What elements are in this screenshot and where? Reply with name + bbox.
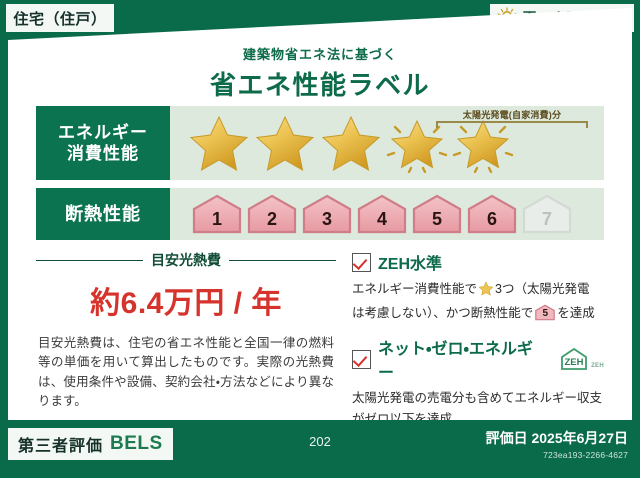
insulation-performance-row: 断熱性能 1	[36, 188, 604, 240]
energy-performance-body: 太陽光発電(自家消費)分	[170, 106, 604, 180]
insulation-scale: 1 2 3	[170, 194, 572, 234]
zeh-desc-house-level: 5	[535, 304, 555, 321]
zeh-logo-sub: ZEH	[591, 363, 604, 371]
star-icon	[188, 113, 250, 173]
footer: 第三者評価 BELS 202 評価日 2025年6月27日 723ea193-2…	[0, 420, 640, 478]
zeh-standard-block: ZEH水準 エネルギー消費性能で3つ（太陽光発電は考慮しない）、かつ断熱性能で5…	[352, 250, 604, 323]
insulation-level-value: 2	[267, 209, 277, 234]
dwelling-type-tag: 住宅（住戸）	[6, 4, 114, 32]
zeh-desc-part3: を達成	[557, 306, 595, 320]
zeh-desc-part2: は考慮しない）、かつ断熱性能で	[352, 306, 533, 320]
energy-performance-row: エネルギー 消費性能	[36, 106, 604, 180]
insulation-level-value: 6	[487, 209, 497, 234]
zeh-section: ZEH水準 エネルギー消費性能で3つ（太陽光発電は考慮しない）、かつ断熱性能で5…	[336, 250, 604, 400]
header: 建築物省エネ法に基づく 省エネ性能ラベル	[22, 44, 618, 102]
insulation-level-badge: 4	[357, 194, 407, 234]
insulation-level-value: 7	[542, 209, 552, 234]
label-sheet-inner: 建築物省エネ法に基づく 省エネ性能ラベル エネルギー 消費性能	[22, 22, 618, 406]
insulation-level-value: 5	[432, 209, 442, 234]
check-icon	[352, 350, 371, 369]
insulation-level-badge-inactive: 7	[522, 194, 572, 234]
zeh-standard-title: ZEH水準	[378, 250, 442, 274]
zeh-desc-part1: エネルギー消費性能で	[352, 282, 477, 296]
energy-cost-section: 目安光熱費 約6.4万円 / 年 目安光熱費は、住宅の省エネ性能と全国一律の燃料…	[36, 250, 336, 400]
check-icon	[352, 253, 371, 272]
label-sheet: 建築物省エネ法に基づく 省エネ性能ラベル エネルギー 消費性能	[8, 8, 632, 420]
page-title: 省エネ性能ラベル	[22, 65, 618, 102]
insulation-level-value: 4	[377, 209, 387, 234]
lower-section: 目安光熱費 約6.4万円 / 年 目安光熱費は、住宅の省エネ性能と全国一律の燃料…	[36, 250, 604, 400]
insulation-performance-body: 1 2 3	[170, 188, 604, 240]
insulation-level-badge: 1	[192, 194, 242, 234]
zeh-desc-star-count: 3つ（太陽光発電	[495, 282, 589, 296]
heading-rule-left	[36, 260, 143, 261]
energy-performance-label: エネルギー 消費性能	[36, 106, 170, 180]
svg-text:ZEH: ZEH	[565, 357, 584, 368]
header-subtitle: 建築物省エネ法に基づく	[22, 44, 618, 63]
energy-cost-value: 約6.4万円 / 年	[36, 278, 336, 322]
insulation-performance-label: 断熱性能	[36, 188, 170, 240]
insulation-level-badge-inline: 5	[535, 304, 555, 321]
energy-cost-note: 目安光熱費は、住宅の省エネ性能と全国一律の燃料等の単価を用いて算出したものです。…	[36, 334, 336, 412]
insulation-level-value: 1	[212, 209, 222, 234]
insulation-level-value: 3	[322, 209, 332, 234]
energy-label-line1: エネルギー	[58, 122, 148, 143]
dwelling-type-label: 住宅（住戸）	[13, 8, 106, 29]
insulation-level-badge: 3	[302, 194, 352, 234]
energy-performance-label: 住宅（住戸） 再エネ設備あり 建築物省エネ法に基づく	[0, 0, 640, 478]
energy-cost-heading: 目安光熱費	[36, 250, 336, 270]
heading-rule-right	[229, 260, 336, 261]
zeh-logo-icon: ZEH ZEH	[559, 347, 604, 371]
star-icon-inline	[478, 285, 494, 299]
insulation-level-badge: 5	[412, 194, 462, 234]
star-icon	[254, 113, 316, 173]
evaluation-info: 評価日 2025年6月27日 723ea193-2266-4627	[486, 428, 628, 460]
star-icon	[320, 113, 382, 173]
zeh-standard-description: エネルギー消費性能で3つ（太陽光発電は考慮しない）、かつ断熱性能で5を達成	[352, 279, 604, 323]
zeh-net-zero-title: ネット・ゼロ・エネルギー	[378, 335, 548, 383]
energy-label-line2: 消費性能	[58, 143, 148, 164]
solar-portion-note: 太陽光発電(自家消費)分	[436, 108, 588, 121]
insulation-level-badge: 2	[247, 194, 297, 234]
solar-portion-bracket	[436, 121, 588, 128]
energy-cost-heading-label: 目安光熱費	[151, 250, 221, 270]
evaluation-date: 評価日 2025年6月27日	[486, 428, 628, 448]
zeh-standard-title-row: ZEH水準	[352, 250, 604, 274]
evaluation-id: 723ea193-2266-4627	[486, 450, 628, 460]
zeh-net-zero-block: ネット・ゼロ・エネルギー ZEH ZEH 太陽光発電の売電分も含めてエネルギー収…	[352, 335, 604, 429]
zeh-net-zero-title-row: ネット・ゼロ・エネルギー ZEH ZEH	[352, 335, 604, 383]
insulation-level-badge-achieved: 6	[467, 194, 517, 234]
